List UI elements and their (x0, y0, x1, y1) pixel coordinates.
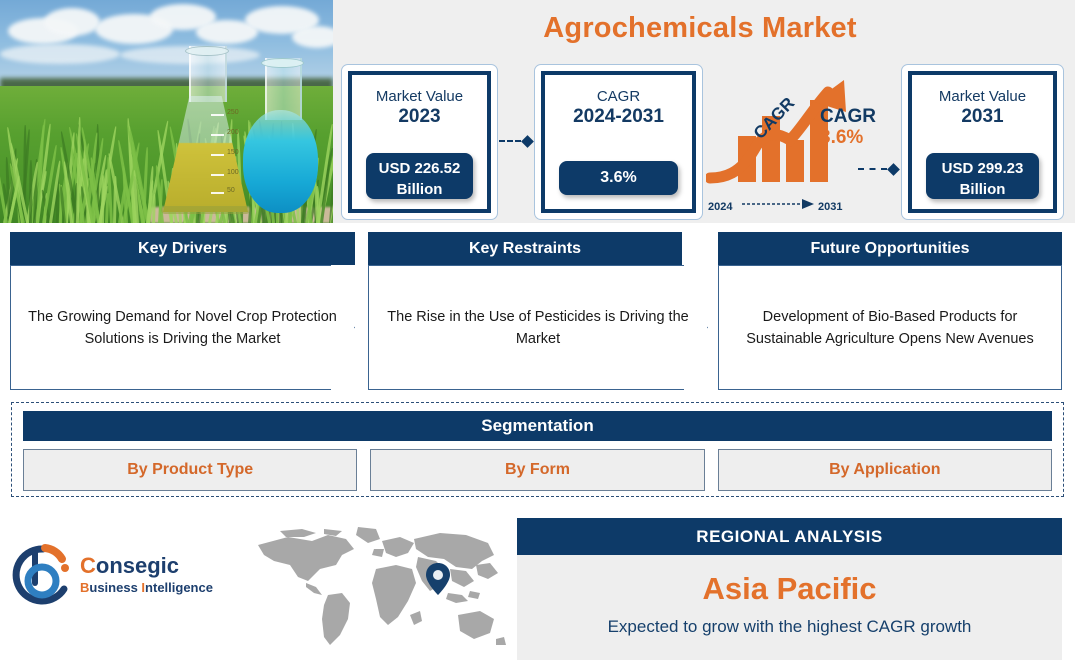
cloud (292, 26, 333, 48)
stat-label: Market Value 2023 (352, 87, 487, 128)
logo-tagline-ntelligence: ntelligence (145, 580, 213, 595)
connector-2 (858, 164, 898, 174)
card-text: Development of Bio-Based Products for Su… (719, 306, 1061, 350)
stat-label: CAGR 2024-2031 (545, 87, 692, 128)
stat-card-inner: Market Value 2023 USD 226.52 Billion (348, 71, 491, 213)
world-map (250, 525, 515, 655)
logo-tagline-usiness: usiness (89, 580, 141, 595)
stat-card-market-value-2031: Market Value 2031 USD 299.23 Billion (901, 64, 1064, 220)
logo-wordmark: Consegic Business Intelligence (80, 553, 213, 596)
graduation-label: 250 (227, 109, 239, 116)
cagr-value: 3.6% (820, 127, 896, 149)
flask-base (161, 206, 250, 214)
cagr-heading: CAGR (820, 106, 896, 127)
consegic-logo: Consegic Business Intelligence (12, 543, 252, 615)
graduation-label: 200 (227, 129, 239, 136)
card-heading: Key Restraints (368, 232, 682, 265)
cagr-start-year: 2024 (708, 201, 732, 213)
cagr-value-block: CAGR 3.6% (820, 106, 896, 149)
flask-lip (185, 46, 229, 56)
cagr-growth-chart-icon: CAGR CAGR 3.6% 2024 2031 (706, 78, 896, 213)
graduation-mark (211, 114, 224, 116)
infographic-page: 250 200 150 100 50 Agrochemicals Market … (0, 0, 1075, 660)
stat-card-inner: CAGR 2024-2031 3.6% (541, 71, 696, 213)
card-body: Development of Bio-Based Products for Su… (718, 265, 1062, 390)
graduation-mark (211, 192, 224, 194)
logo-tagline: Business Intelligence (80, 579, 213, 596)
hero-photo: 250 200 150 100 50 (0, 0, 333, 223)
stat-value-pill: USD 226.52 Billion (366, 153, 473, 199)
stat-label-text: Market Value (376, 88, 463, 105)
round-flask-blue (243, 58, 318, 213)
card-key-restraints: Key Restraints The Rise in the Use of Pe… (368, 232, 708, 390)
card-text: The Growing Demand for Novel Crop Protec… (11, 306, 354, 350)
segment-by-application[interactable]: By Application (718, 449, 1052, 491)
card-heading: Key Drivers (10, 232, 355, 265)
diamond-marker (887, 163, 900, 176)
stat-label-text: CAGR (597, 88, 640, 105)
stat-year: 2024-2031 (573, 106, 664, 127)
world-map-svg (250, 525, 515, 655)
flask-lip (261, 58, 304, 68)
regional-analysis-heading: REGIONAL ANALYSIS (517, 518, 1062, 555)
card-key-drivers: Key Drivers The Growing Demand for Novel… (10, 232, 355, 390)
stat-value-pill: USD 299.23 Billion (926, 153, 1039, 199)
dashed-line (858, 168, 887, 170)
cagr-axis-arrow (742, 199, 816, 209)
stat-label-text: Market Value (939, 88, 1026, 105)
stat-card-inner: Market Value 2031 USD 299.23 Billion (908, 71, 1057, 213)
regional-analysis-note: Expected to grow with the highest CAGR g… (517, 617, 1062, 637)
connector-1 (499, 136, 532, 146)
segment-by-product-type[interactable]: By Product Type (23, 449, 357, 491)
graduation-label: 50 (227, 187, 235, 194)
segment-by-form[interactable]: By Form (370, 449, 704, 491)
card-body: The Growing Demand for Novel Crop Protec… (10, 265, 355, 390)
regional-analysis-panel: REGIONAL ANALYSIS Asia Pacific Expected … (517, 518, 1062, 660)
stat-year: 2031 (961, 106, 1003, 127)
stat-card-cagr: CAGR 2024-2031 3.6% (534, 64, 703, 220)
graduation-label: 150 (227, 149, 239, 156)
cloud (44, 8, 100, 36)
top-band: 250 200 150 100 50 Agrochemicals Market … (0, 0, 1075, 223)
segmentation-items: By Product Type By Form By Application (23, 449, 1052, 491)
stat-value-pill: 3.6% (559, 161, 678, 195)
cagr-end-year: 2031 (818, 201, 842, 213)
card-future-opportunities: Future Opportunities Development of Bio-… (718, 232, 1062, 390)
segmentation-section: Segmentation By Product Type By Form By … (11, 402, 1064, 497)
regional-analysis-region: Asia Pacific (517, 571, 1062, 607)
card-heading: Future Opportunities (718, 232, 1062, 265)
logo-name-rest: onsegic (96, 553, 179, 578)
stat-card-market-value-2023: Market Value 2023 USD 226.52 Billion (341, 64, 498, 220)
stat-year: 2023 (398, 106, 440, 127)
card-body: The Rise in the Use of Pesticides is Dri… (368, 265, 708, 390)
page-title: Agrochemicals Market (340, 12, 1060, 45)
logo-name: Consegic (80, 553, 213, 579)
logo-tagline-b: B (80, 580, 89, 595)
stat-label: Market Value 2031 (912, 87, 1053, 128)
graduation-mark (211, 174, 224, 176)
logo-mark-icon (12, 543, 74, 609)
dashed-line (499, 140, 521, 142)
logo-name-initial: C (80, 553, 96, 578)
erlenmeyer-flask-yellow: 250 200 150 100 50 (163, 46, 248, 212)
diamond-marker (521, 135, 534, 148)
map-landmasses (258, 527, 506, 645)
graduation-mark (211, 154, 224, 156)
graduation-label: 100 (227, 169, 239, 176)
segmentation-heading: Segmentation (23, 411, 1052, 441)
card-text: The Rise in the Use of Pesticides is Dri… (369, 306, 707, 350)
cloud (0, 44, 120, 64)
flask-bulb (243, 110, 318, 213)
graduation-mark (211, 134, 224, 136)
